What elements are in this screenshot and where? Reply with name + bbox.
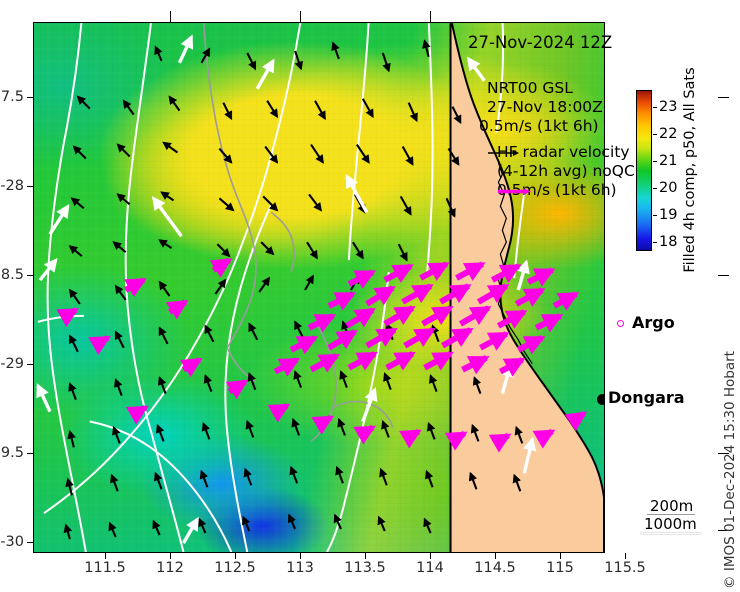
x-tick bbox=[105, 553, 106, 559]
colorbar-tick-label: 19 bbox=[659, 207, 677, 223]
y-tick-label: -30 bbox=[0, 534, 24, 550]
x-tick-label: 111.5 bbox=[84, 560, 126, 576]
sst-map-figure: 111.5 112 112.5 113 113.5 114 114.5 115 … bbox=[0, 0, 740, 592]
colorbar bbox=[636, 90, 652, 251]
y-tick-label: -28.5 bbox=[0, 267, 24, 283]
map-title: 27-Nov-2024 12Z bbox=[468, 33, 612, 52]
colorbar-tick bbox=[653, 215, 657, 216]
colorbar-tick bbox=[653, 107, 657, 108]
x-tick bbox=[430, 553, 431, 559]
hfradar-label-line2: (4-12h avg) noQC bbox=[497, 162, 635, 181]
x-tick-label: 114.5 bbox=[474, 560, 516, 576]
colorbar-tick bbox=[653, 242, 657, 243]
y-tick-label: -28 bbox=[0, 178, 24, 194]
x-tick-label: 113 bbox=[286, 560, 314, 576]
x-tick-label: 114 bbox=[416, 560, 444, 576]
y-tick bbox=[27, 186, 33, 187]
top-tick bbox=[300, 11, 301, 22]
x-tick bbox=[365, 553, 366, 559]
top-tick bbox=[170, 11, 171, 22]
colorbar-title: Filled 4h comp, p50, All Sats bbox=[682, 67, 698, 272]
x-tick-label: 112 bbox=[156, 560, 184, 576]
x-tick bbox=[170, 553, 171, 559]
colorbar-tick-label: 23 bbox=[659, 99, 677, 115]
y-tick-label: -27.5 bbox=[0, 89, 24, 105]
colorbar-tick-label: 22 bbox=[659, 126, 677, 142]
hfradar-reference-arrow bbox=[497, 186, 531, 196]
colorbar-tick bbox=[653, 134, 657, 135]
depth-1000m-label: 1000m bbox=[644, 515, 697, 533]
y-tick bbox=[27, 97, 33, 98]
argo-legend-label: Argo bbox=[632, 313, 675, 332]
colorbar-tick-label: 20 bbox=[659, 180, 677, 196]
x-tick-label: 113.5 bbox=[344, 560, 386, 576]
current-source-label: NRT00 GSL bbox=[487, 79, 573, 98]
y-tick bbox=[27, 542, 33, 543]
y-tick-label: -29.5 bbox=[0, 445, 24, 461]
dongara-label: Dongara bbox=[608, 388, 685, 407]
dongara-station-marker[interactable] bbox=[597, 394, 605, 405]
current-refvector-label: 0.5m/s (1kt 6h) bbox=[479, 117, 599, 136]
x-tick bbox=[560, 553, 561, 559]
colorbar-tick-label: 21 bbox=[659, 153, 677, 169]
colorbar-tick-label: 18 bbox=[659, 234, 677, 250]
right-tick bbox=[718, 97, 729, 98]
x-tick bbox=[235, 553, 236, 559]
copyright-notice: © IMOS 01-Dec-2024 15:30 Hobart bbox=[722, 351, 738, 589]
x-tick-label: 115.5 bbox=[604, 560, 646, 576]
depth-200m-label: 200m bbox=[650, 497, 693, 515]
right-tick bbox=[718, 275, 729, 276]
x-tick-label: 115 bbox=[546, 560, 574, 576]
x-tick bbox=[625, 553, 626, 559]
x-tick bbox=[495, 553, 496, 559]
current-validtime-label: 27-Nov 18:00Z bbox=[487, 98, 603, 117]
top-tick bbox=[430, 11, 431, 22]
y-tick bbox=[27, 453, 33, 454]
argo-legend-marker bbox=[617, 320, 624, 327]
x-tick-label: 112.5 bbox=[214, 560, 256, 576]
y-tick-label: -29 bbox=[0, 356, 24, 372]
depth-1000m-swatch bbox=[641, 533, 701, 534]
y-tick bbox=[27, 275, 33, 276]
x-tick bbox=[300, 553, 301, 559]
hfradar-label-line1: HF radar velocity bbox=[497, 143, 630, 162]
colorbar-tick bbox=[653, 161, 657, 162]
colorbar-tick bbox=[653, 188, 657, 189]
y-tick bbox=[27, 364, 33, 365]
